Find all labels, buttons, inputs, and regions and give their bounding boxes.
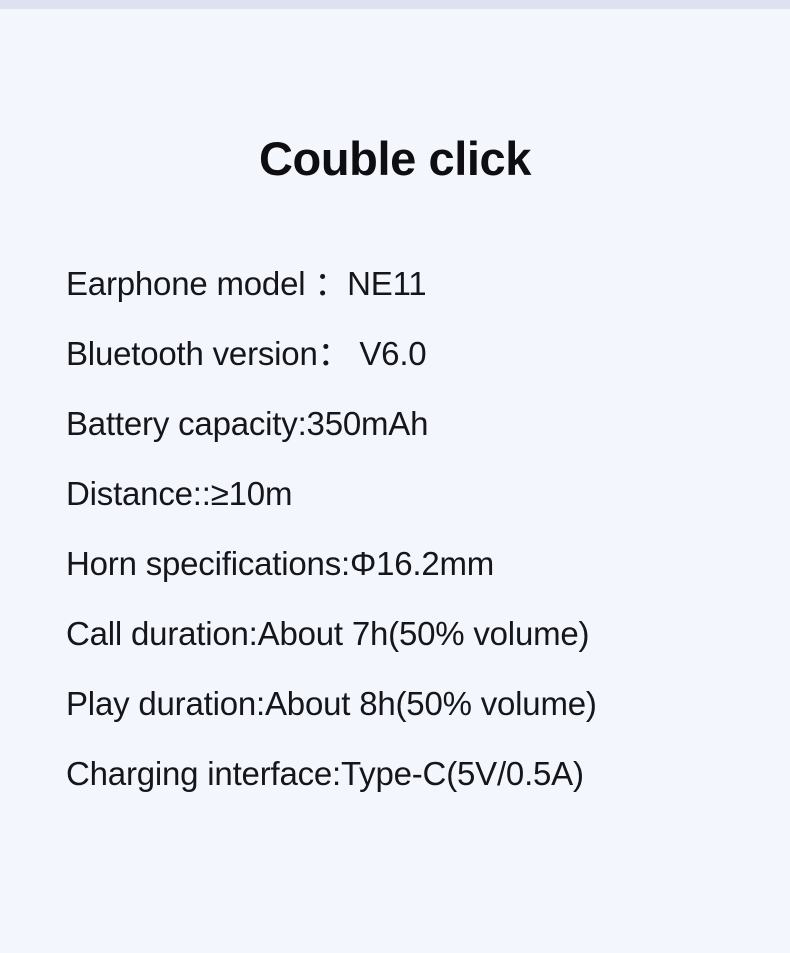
top-accent-strip xyxy=(0,0,790,9)
panel-content: Couble click Earphone model ：NE11 Blueto… xyxy=(0,9,790,953)
spec-text: Horn specifications:Φ16.2mm xyxy=(66,545,494,582)
page-title: Couble click xyxy=(0,133,790,185)
spec-row-distance: Distance::≥10m xyxy=(66,459,766,529)
spec-row-horn-specifications: Horn specifications:Φ16.2mm xyxy=(66,529,766,599)
spec-text: Call duration:About 7h(50% volume) xyxy=(66,615,589,652)
spec-text: Play duration:About 8h(50% volume) xyxy=(66,685,597,722)
spec-text: Distance::≥10m xyxy=(66,475,292,512)
spec-row-bluetooth-version: Bluetooth version： V6.0 xyxy=(66,319,766,389)
spec-row-call-duration: Call duration:About 7h(50% volume) xyxy=(66,599,766,669)
spec-text: Bluetooth version： V6.0 xyxy=(66,335,426,372)
spec-row-charging-interface: Charging interface:Type-C(5V/0.5A) xyxy=(66,739,766,809)
spec-row-play-duration: Play duration:About 8h(50% volume) xyxy=(66,669,766,739)
product-spec-panel: Couble click Earphone model ：NE11 Blueto… xyxy=(0,0,790,953)
spec-row-battery-capacity: Battery capacity:350mAh xyxy=(66,389,766,459)
spec-text: Charging interface:Type-C(5V/0.5A) xyxy=(66,755,584,792)
spec-row-earphone-model: Earphone model ：NE11 xyxy=(66,249,766,319)
spec-text: Battery capacity:350mAh xyxy=(66,405,428,442)
spec-text: Earphone model ：NE11 xyxy=(66,265,426,302)
specification-list: Earphone model ：NE11 Bluetooth version： … xyxy=(66,249,766,809)
